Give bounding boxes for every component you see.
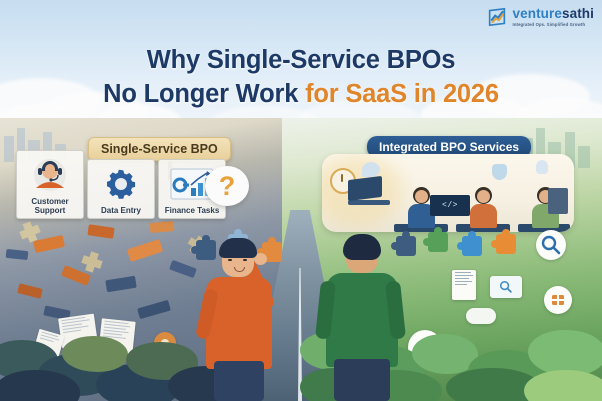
- service-card-label: Data Entry: [90, 204, 152, 216]
- brand-logo[interactable]: venturesathi Integrated Ops. Simplified …: [486, 6, 594, 28]
- puzzle-piece: [462, 236, 482, 256]
- split-scene: Single-Service BPO Customer S: [0, 118, 602, 401]
- foliage: [62, 336, 128, 372]
- figure-head: [222, 243, 254, 277]
- gear-flower-icon: [544, 286, 572, 314]
- magnifier-icon: [536, 230, 566, 260]
- figure-head: [346, 239, 378, 273]
- service-card-data-entry[interactable]: Data Entry: [87, 159, 155, 219]
- debris-piece: [150, 221, 175, 233]
- shield-icon: [492, 164, 507, 180]
- brand-name-first: venture: [513, 6, 562, 21]
- question-mark-icon: ?: [219, 173, 236, 200]
- lightbulb-icon: [536, 160, 548, 174]
- poster-canvas: venturesathi Integrated Ops. Simplified …: [0, 0, 602, 401]
- headline-line-1: Why Single-Service BPOs: [0, 44, 602, 78]
- cloud-icon: [466, 308, 496, 324]
- integrated-team-panel: </>: [322, 154, 574, 232]
- laptop-icon: [348, 178, 390, 204]
- puzzle-piece: [428, 232, 448, 252]
- page-title: Why Single-Service BPOs No Longer Work f…: [0, 44, 602, 111]
- brand-tagline: Integrated Ops. Simplified Growth: [513, 23, 594, 27]
- single-service-card-group: Customer Support Data Entry: [16, 150, 226, 219]
- code-screen: </>: [430, 195, 470, 216]
- headline-line-2-orange: for SaaS in 2026: [305, 80, 499, 108]
- document-icon: [452, 270, 476, 300]
- puzzle-piece: [496, 234, 516, 254]
- figure-hair: [343, 234, 381, 260]
- search-doc-icon: [490, 276, 522, 298]
- confused-man-figure: [196, 231, 282, 401]
- headline-line-2-navy: No Longer Work: [103, 80, 305, 108]
- question-bubble: ?: [205, 166, 249, 206]
- chat-bubble-icon: [362, 162, 380, 177]
- service-card-label: Customer Support: [19, 195, 81, 216]
- figure-legs: [214, 361, 264, 401]
- file-cabinet-icon: [548, 188, 568, 214]
- gear-icon: [90, 164, 152, 204]
- service-card-label: Finance Tasks: [161, 204, 223, 216]
- figure-hair: [219, 238, 257, 258]
- forward-looking-man-figure: [318, 225, 406, 401]
- service-card-customer-support[interactable]: Customer Support: [16, 150, 84, 219]
- headline-line-2: No Longer Work for SaaS in 2026: [0, 78, 602, 112]
- figure-legs: [334, 359, 390, 401]
- brand-name-second: sathi: [562, 6, 594, 21]
- brand-name: venturesathi: [513, 7, 594, 21]
- headset-agent-icon: [19, 155, 81, 195]
- chart-arrow-logo-icon: [486, 6, 508, 28]
